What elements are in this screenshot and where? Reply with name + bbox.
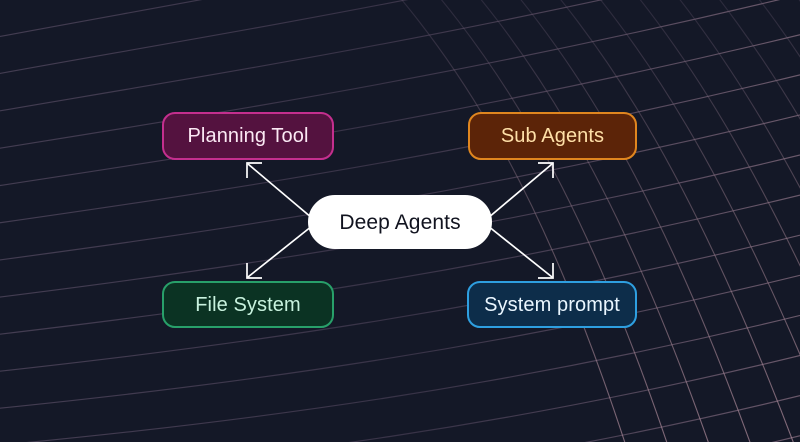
diagram-canvas: Planning Tool Sub Agents File System Sys… <box>0 0 800 442</box>
node-planning-tool[interactable]: Planning Tool <box>162 112 334 160</box>
node-sub-agents[interactable]: Sub Agents <box>468 112 637 160</box>
node-file-system[interactable]: File System <box>162 281 334 328</box>
edge-to-file-system <box>247 226 312 278</box>
node-system-prompt-label: System prompt <box>484 295 620 315</box>
node-system-prompt[interactable]: System prompt <box>467 281 637 328</box>
node-file-system-label: File System <box>195 295 301 315</box>
node-planning-tool-label: Planning Tool <box>187 126 308 146</box>
node-sub-agents-label: Sub Agents <box>501 126 604 146</box>
edge-to-planning-tool <box>247 163 312 218</box>
node-deep-agents-label: Deep Agents <box>339 212 460 233</box>
edge-to-sub-agents <box>488 163 553 218</box>
edge-to-system-prompt <box>488 226 553 278</box>
node-deep-agents[interactable]: Deep Agents <box>308 195 492 249</box>
